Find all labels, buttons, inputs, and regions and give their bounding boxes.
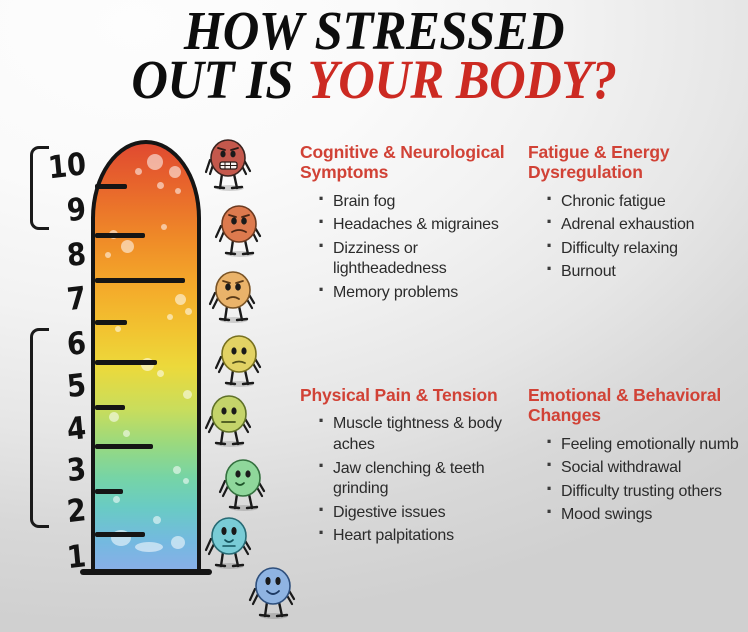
bubble-icon	[135, 542, 163, 552]
thermometer-tube	[91, 140, 201, 572]
list-item: Muscle tightness & body aches	[318, 414, 526, 456]
bubble-icon	[183, 478, 189, 484]
section-list: Feeling emotionally numb Social withdraw…	[528, 435, 748, 526]
tick-mark	[95, 278, 185, 283]
scale-number-8: 8	[30, 236, 88, 278]
tick-mark	[95, 405, 125, 410]
thermometer-graphic: 10 9 8 7 6 5 4 3 2 1	[18, 132, 286, 602]
section-list: Brain fog Headaches & migraines Dizzines…	[300, 192, 518, 303]
bubble-icon	[123, 430, 130, 437]
poster-title: HOW STRESSED OUT ISYOUR BODY?	[0, 4, 748, 107]
list-item: Heart palpitations	[318, 526, 526, 547]
blob-stressed	[214, 204, 260, 256]
title-line-2: OUT ISYOUR BODY?	[30, 53, 718, 106]
list-item: Feeling emotionally numb	[546, 435, 748, 456]
bubble-icon	[175, 188, 181, 194]
blob-very-relaxed	[248, 566, 294, 618]
scale-number-7: 7	[30, 280, 88, 322]
list-item: Burnout	[546, 262, 744, 283]
bubble-icon	[135, 168, 142, 175]
bubble-icon	[169, 166, 181, 178]
list-item: Difficulty trusting others	[546, 482, 748, 503]
section-list: Muscle tightness & body aches Jaw clench…	[300, 414, 526, 546]
bubble-icon	[113, 496, 120, 503]
list-item: Social withdrawal	[546, 458, 748, 479]
infographic-poster: HOW STRESSED OUT ISYOUR BODY?	[0, 0, 748, 632]
high-range-bracket	[30, 146, 49, 230]
tick-mark	[95, 444, 153, 449]
bubble-icon	[183, 390, 192, 399]
scale-number-1: 1	[30, 538, 88, 580]
list-item: Memory problems	[318, 283, 518, 304]
bubble-icon	[175, 294, 186, 305]
blob-relaxed	[204, 516, 250, 568]
list-item: Difficulty relaxing	[546, 239, 744, 260]
bubble-icon	[109, 412, 119, 422]
blob-very-stressed	[204, 138, 250, 190]
section-heading: Cognitive & Neurological Symptoms	[300, 142, 518, 183]
tick-mark	[95, 320, 127, 325]
bubble-icon	[171, 536, 185, 549]
title-line-2-red: YOUR BODY?	[308, 49, 617, 110]
mid-low-range-bracket	[30, 328, 49, 528]
list-item: Brain fog	[318, 192, 518, 213]
section-fatigue: Fatigue & Energy Dysregulation Chronic f…	[528, 142, 744, 285]
list-item: Chronic fatigue	[546, 192, 744, 213]
tick-mark	[95, 233, 145, 238]
bubble-icon	[105, 252, 111, 258]
tick-mark	[95, 184, 127, 189]
list-item: Dizziness or lightheadedness	[318, 239, 518, 281]
bubble-icon	[157, 182, 164, 189]
section-heading: Fatigue & Energy Dysregulation	[528, 142, 744, 183]
bubble-icon	[153, 516, 161, 524]
blob-neutral	[204, 394, 250, 446]
section-cognitive: Cognitive & Neurological Symptoms Brain …	[300, 142, 518, 306]
list-item: Mood swings	[546, 505, 748, 526]
bubble-icon	[147, 154, 163, 170]
tick-mark	[95, 489, 123, 494]
section-emotional: Emotional & Behavioral Changes Feeling e…	[528, 385, 748, 528]
bubble-icon	[185, 308, 192, 315]
list-item: Jaw clenching & teeth grinding	[318, 459, 526, 501]
section-heading: Emotional & Behavioral Changes	[528, 385, 748, 426]
list-item: Headaches & migraines	[318, 215, 518, 236]
list-item: Digestive issues	[318, 503, 526, 524]
title-line-2-black: OUT IS	[131, 49, 293, 110]
section-physical: Physical Pain & Tension Muscle tightness…	[300, 385, 526, 549]
list-item: Adrenal exhaustion	[546, 215, 744, 236]
bubble-icon	[167, 314, 173, 320]
bubble-icon	[115, 326, 121, 332]
section-list: Chronic fatigue Adrenal exhaustion Diffi…	[528, 192, 744, 283]
bubble-icon	[121, 240, 134, 253]
blob-worried	[208, 270, 254, 322]
section-heading: Physical Pain & Tension	[300, 385, 526, 405]
tick-mark	[95, 360, 157, 365]
blob-uneasy	[214, 334, 260, 386]
bubble-icon	[161, 224, 167, 230]
bubble-icon	[173, 466, 181, 474]
tick-mark	[95, 532, 145, 537]
blob-calm	[218, 458, 264, 510]
bubble-icon	[157, 370, 164, 377]
thermometer-base	[80, 569, 212, 575]
